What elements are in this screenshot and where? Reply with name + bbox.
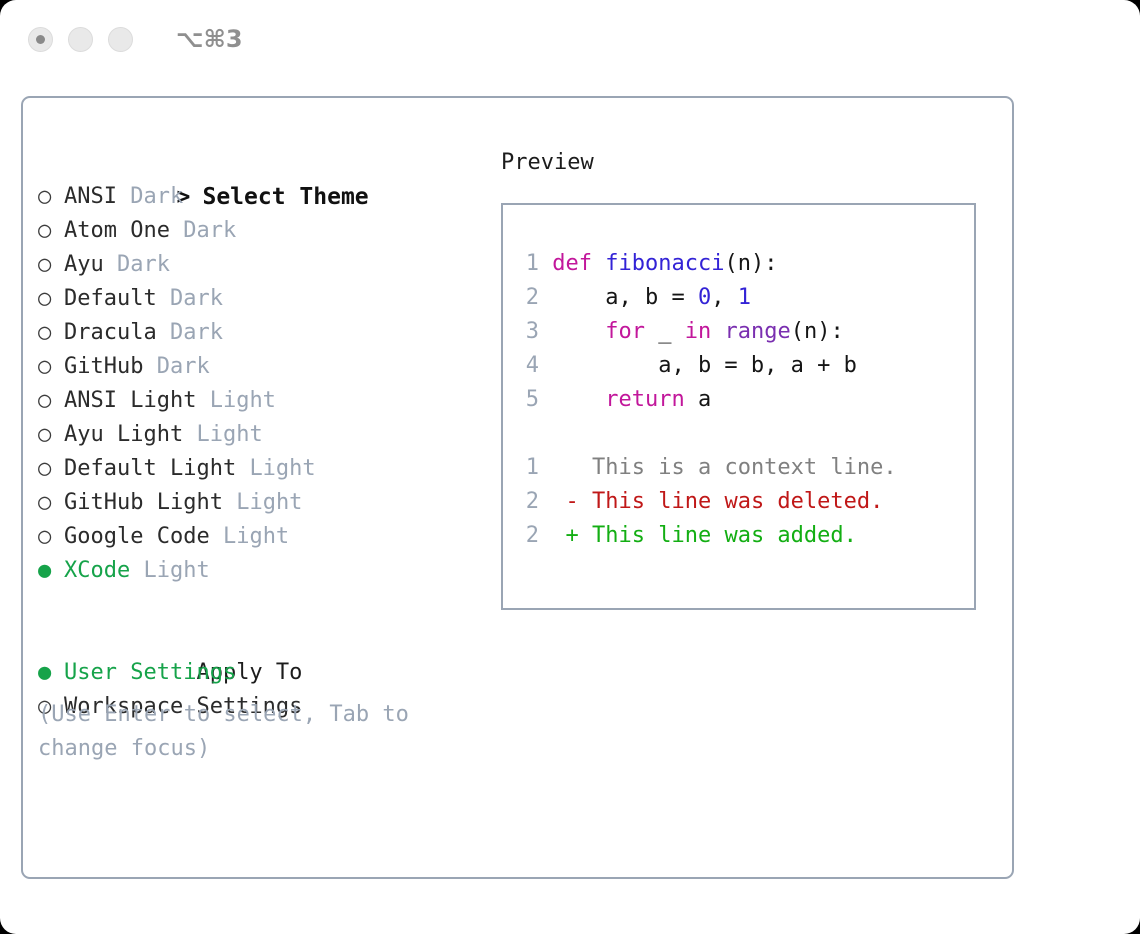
- code-token: return: [605, 387, 684, 412]
- theme-variant-badge: Dark: [157, 354, 210, 379]
- diff-line-number: 2: [515, 485, 539, 519]
- code-token: range: [724, 319, 790, 344]
- window-dot-active-icon[interactable]: [28, 27, 53, 52]
- theme-name: Ayu Light: [64, 422, 183, 447]
- radio-unselected-icon[interactable]: ○: [38, 418, 64, 452]
- code-token: for: [605, 319, 645, 344]
- theme-name: Default: [64, 286, 157, 311]
- code-token: a, b =: [552, 285, 698, 310]
- preview-box: 1 def fibonacci(n):2 a, b = 0, 13 for _ …: [501, 203, 976, 610]
- apply-to-section-title: Apply To: [38, 622, 498, 656]
- radio-unselected-icon[interactable]: ○: [38, 452, 64, 486]
- theme-picker: >Select Theme ○ANSI Dark○Atom One Dark○A…: [38, 146, 498, 724]
- diff-line-number: 2: [515, 519, 539, 553]
- theme-variant-badge: Dark: [117, 252, 170, 277]
- diff-text: This line was added.: [592, 523, 857, 548]
- code-token: in: [685, 319, 712, 344]
- code-line-number: 2: [515, 281, 539, 315]
- theme-variant-badge: Dark: [170, 286, 223, 311]
- theme-name: GitHub Light: [64, 490, 223, 515]
- code-token: def: [552, 251, 592, 276]
- theme-variant-badge: Light: [196, 422, 262, 447]
- theme-variant-badge: Light: [210, 388, 276, 413]
- code-diff-separator: [515, 417, 897, 451]
- theme-variant-badge: Dark: [170, 320, 223, 345]
- radio-unselected-icon[interactable]: ○: [38, 384, 64, 418]
- code-token: [552, 319, 605, 344]
- theme-list-item[interactable]: ○Default Light Light: [38, 452, 498, 486]
- theme-list-item[interactable]: ○Default Dark: [38, 282, 498, 316]
- code-line: 4 a, b = b, a + b: [515, 349, 897, 383]
- theme-variant-badge: Light: [236, 490, 302, 515]
- theme-variant-badge: Dark: [183, 218, 236, 243]
- theme-name: ANSI Light: [64, 388, 196, 413]
- code-preview: 1 def fibonacci(n):2 a, b = 0, 13 for _ …: [515, 247, 897, 553]
- code-line-number: 3: [515, 315, 539, 349]
- code-line-number: 1: [515, 247, 539, 281]
- theme-picker-header: >Select Theme: [38, 146, 498, 180]
- diff-sign: +: [566, 523, 579, 548]
- theme-list-item[interactable]: ●XCode Light: [38, 554, 498, 588]
- spacer-1: [38, 588, 498, 622]
- diff-text: This is a context line.: [592, 455, 897, 480]
- theme-list-item[interactable]: ○GitHub Dark: [38, 350, 498, 384]
- code-token: [711, 319, 724, 344]
- radio-unselected-icon[interactable]: ○: [38, 248, 64, 282]
- theme-variant-badge: Light: [249, 456, 315, 481]
- code-line: 1 def fibonacci(n):: [515, 247, 897, 281]
- theme-name: Dracula: [64, 320, 157, 345]
- theme-variant-badge: Dark: [130, 184, 183, 209]
- page-title: Select Theme: [202, 184, 368, 210]
- theme-list-item[interactable]: ○GitHub Light Light: [38, 486, 498, 520]
- radio-unselected-icon[interactable]: ○: [38, 486, 64, 520]
- code-token: [592, 251, 605, 276]
- radio-selected-icon[interactable]: ●: [38, 656, 64, 690]
- code-token: (n):: [724, 251, 777, 276]
- theme-list-item[interactable]: ○Dracula Dark: [38, 316, 498, 350]
- diff-sign: [566, 455, 579, 480]
- theme-variant-badge: Light: [143, 558, 209, 583]
- code-line: 2 a, b = 0, 1: [515, 281, 897, 315]
- window-dot-icon-2[interactable]: [68, 27, 93, 52]
- hint-text: (Use Enter to select, Tab to change focu…: [38, 698, 458, 766]
- code-token: a, b = b, a + b: [552, 353, 857, 378]
- theme-list-item[interactable]: ○Ayu Dark: [38, 248, 498, 282]
- radio-selected-icon[interactable]: ●: [38, 554, 64, 588]
- code-token: (n):: [791, 319, 844, 344]
- preview-section: Preview: [501, 146, 991, 180]
- diff-sign: -: [566, 489, 579, 514]
- keyboard-shortcut-label: ⌥⌘3: [176, 25, 243, 53]
- main-panel: >Select Theme ○ANSI Dark○Atom One Dark○A…: [21, 96, 1014, 879]
- radio-unselected-icon[interactable]: ○: [38, 214, 64, 248]
- code-token: ,: [711, 285, 738, 310]
- code-token: 1: [738, 285, 751, 310]
- radio-unselected-icon[interactable]: ○: [38, 316, 64, 350]
- theme-name: XCode: [64, 558, 130, 583]
- preview-label: Preview: [501, 146, 991, 180]
- code-line-number: 5: [515, 383, 539, 417]
- theme-variant-badge: Light: [223, 524, 289, 549]
- theme-name: Google Code: [64, 524, 210, 549]
- theme-name: Default Light: [64, 456, 236, 481]
- window-dot-icon-3[interactable]: [108, 27, 133, 52]
- theme-list-item[interactable]: ○Atom One Dark: [38, 214, 498, 248]
- theme-name: Atom One: [64, 218, 170, 243]
- radio-unselected-icon[interactable]: ○: [38, 350, 64, 384]
- theme-name: ANSI: [64, 184, 117, 209]
- diff-line: 2 - This line was deleted.: [515, 485, 897, 519]
- theme-list-item[interactable]: ○ANSI Light Light: [38, 384, 498, 418]
- radio-unselected-icon[interactable]: ○: [38, 282, 64, 316]
- code-line: 3 for _ in range(n):: [515, 315, 897, 349]
- radio-unselected-icon[interactable]: ○: [38, 180, 64, 214]
- app-window: ⌥⌘3 >Select Theme ○ANSI Dark○Atom One Da…: [0, 0, 1140, 934]
- theme-list-item[interactable]: ○Ayu Light Light: [38, 418, 498, 452]
- apply-to-label: User Settings: [64, 660, 236, 685]
- code-line-number: 4: [515, 349, 539, 383]
- code-token: fibonacci: [605, 251, 724, 276]
- code-token: [552, 387, 605, 412]
- code-token: _: [645, 319, 685, 344]
- theme-list-item[interactable]: ○Google Code Light: [38, 520, 498, 554]
- theme-name: GitHub: [64, 354, 143, 379]
- code-token: a: [685, 387, 712, 412]
- theme-list: ○ANSI Dark○Atom One Dark○Ayu Dark○Defaul…: [38, 180, 498, 588]
- diff-line: 1 This is a context line.: [515, 451, 897, 485]
- code-token: 0: [698, 285, 711, 310]
- theme-name: Ayu: [64, 252, 104, 277]
- diff-text: This line was deleted.: [592, 489, 883, 514]
- diff-line: 2 + This line was added.: [515, 519, 897, 553]
- radio-unselected-icon[interactable]: ○: [38, 520, 64, 554]
- code-line: 5 return a: [515, 383, 897, 417]
- diff-line-number: 1: [515, 451, 539, 485]
- window-dot-active-inner: [36, 35, 45, 44]
- title-bar: ⌥⌘3: [0, 0, 1140, 78]
